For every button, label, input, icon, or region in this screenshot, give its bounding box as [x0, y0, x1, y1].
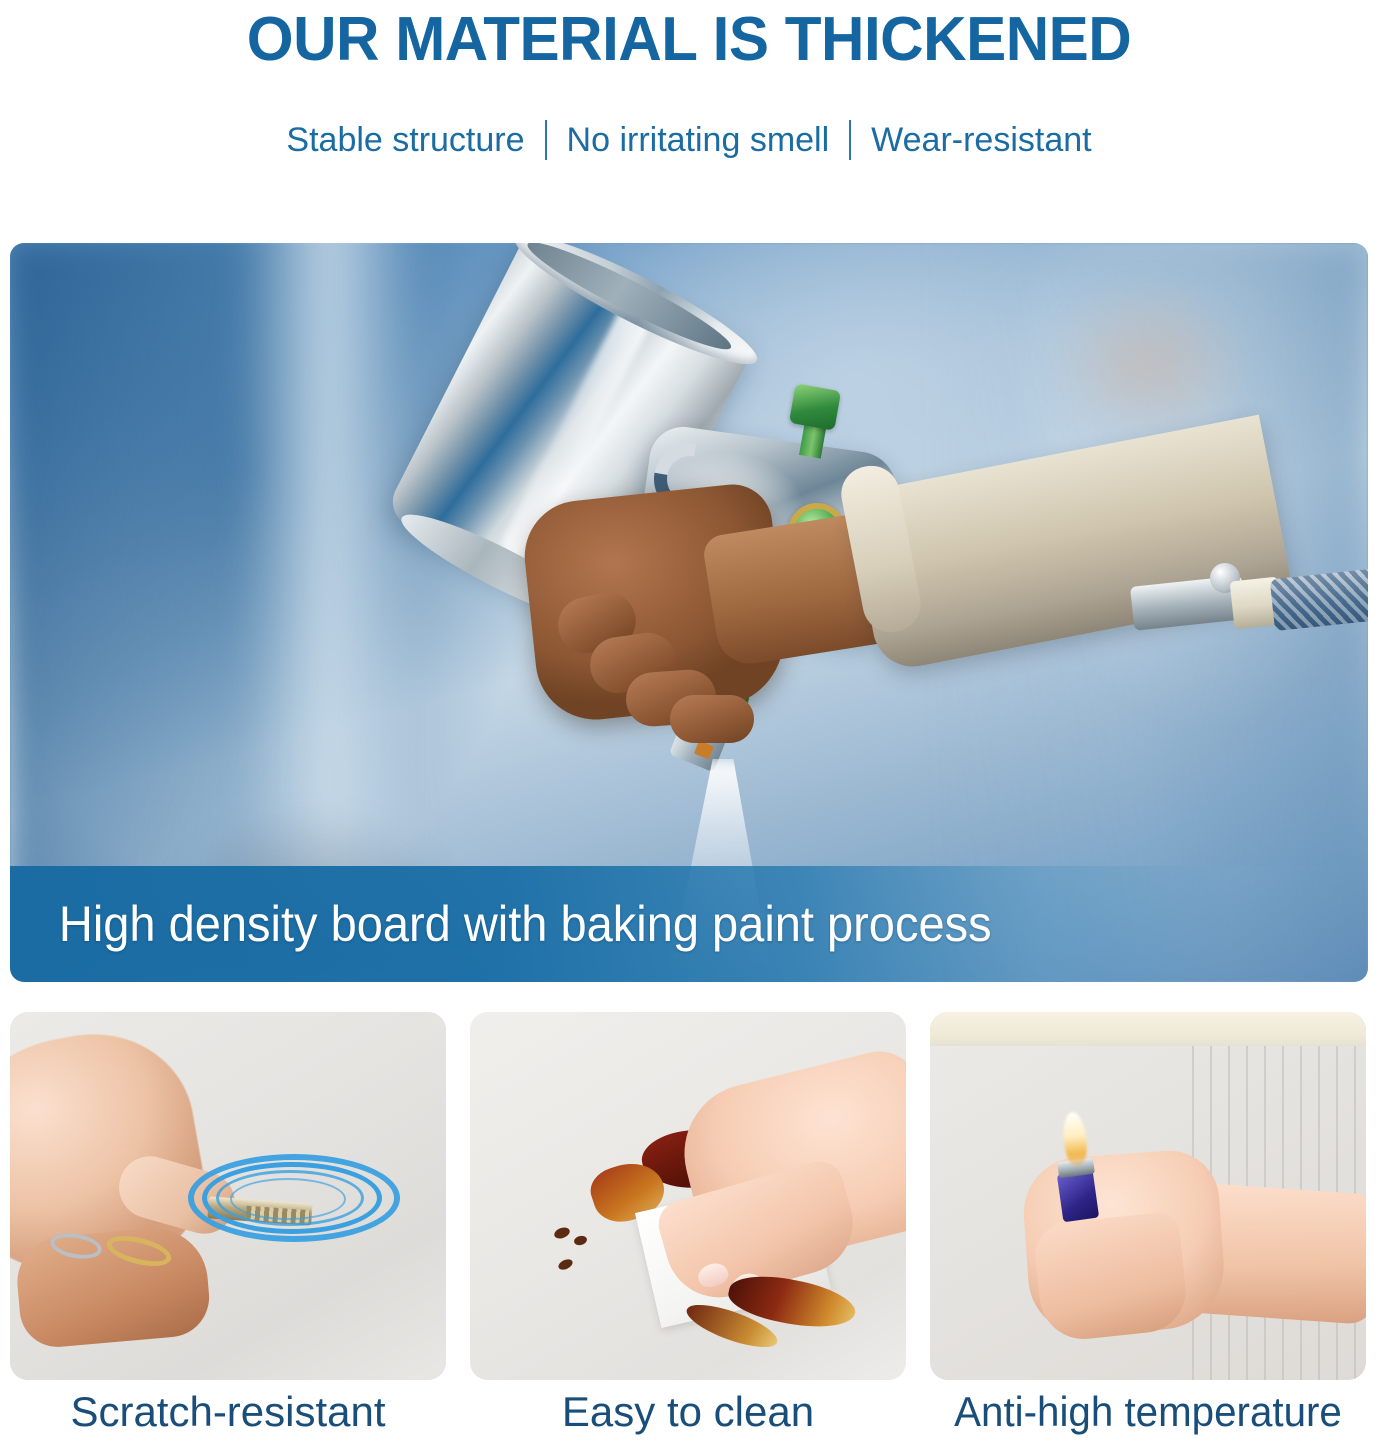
feature-panel-scratch-resistant [10, 1012, 446, 1380]
header: OUR MATERIAL IS THICKENED Stable structu… [0, 0, 1378, 160]
page-title: OUR MATERIAL IS THICKENED [21, 4, 1358, 76]
scratch-ripple-ring [230, 1178, 346, 1220]
feature-panel-anti-high-temperature [930, 1012, 1366, 1380]
finger [670, 695, 754, 743]
feature-panels [10, 1012, 1368, 1380]
feature-separator-2 [849, 120, 851, 160]
feature-item-3: Wear-resistant [871, 120, 1091, 160]
panel-label-anti-high-temperature: Anti-high temperature [939, 1386, 1358, 1438]
panel-label-scratch-resistant: Scratch-resistant [10, 1386, 446, 1438]
hero-caption-text: High density board with baking paint pro… [10, 895, 992, 953]
fingers [1032, 1211, 1190, 1344]
fluid-adjust-knob [789, 383, 841, 430]
feature-item-1: Stable structure [286, 120, 524, 160]
paint-cup-lip [505, 243, 767, 381]
panel-label-easy-to-clean: Easy to clean [470, 1386, 906, 1438]
feature-separator-1 [545, 120, 547, 160]
feature-list: Stable structure No irritating smell Wea… [0, 120, 1378, 160]
hero-image: High density board with baking paint pro… [10, 243, 1368, 982]
panel-labels: Scratch-resistant Easy to clean Anti-hig… [10, 1386, 1368, 1438]
hero-caption-bar: High density board with baking paint pro… [10, 866, 1368, 982]
feature-panel-easy-to-clean [470, 1012, 906, 1380]
feature-item-2: No irritating smell [567, 120, 830, 160]
panel-top-edge [930, 1012, 1366, 1046]
